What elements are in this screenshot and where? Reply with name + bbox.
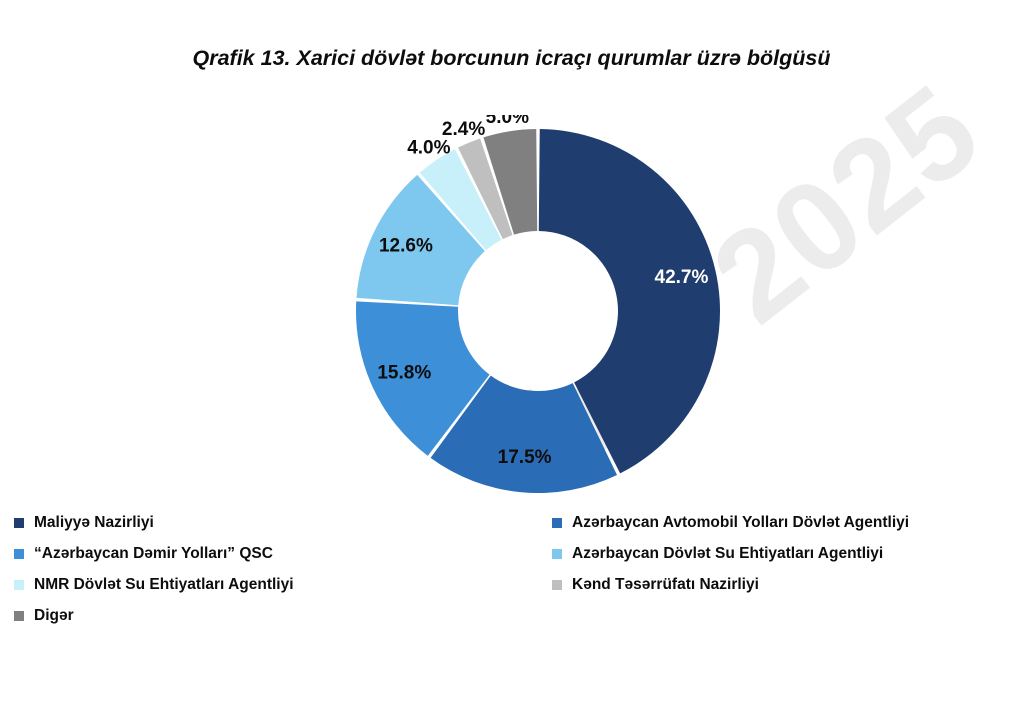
legend-swatch-icon — [552, 549, 562, 559]
legend-swatch-icon — [14, 518, 24, 528]
legend-item[interactable]: Maliyyə Nazirliyi — [14, 508, 534, 538]
legend-item-label: Digər — [34, 608, 74, 624]
legend-swatch-icon — [14, 611, 24, 621]
legend-item[interactable]: Digər — [14, 601, 534, 631]
legend-item[interactable]: Azərbaycan Avtomobil Yolları Dövlət Agen… — [552, 508, 1012, 538]
legend-swatch-icon — [552, 518, 562, 528]
slice-data-label: 12.6% — [379, 235, 433, 256]
slice-data-label: 2.4% — [442, 119, 485, 140]
legend-item[interactable]: Azərbaycan Dövlət Su Ehtiyatları Agentli… — [552, 539, 1012, 569]
slice-data-label: 5.0% — [486, 115, 529, 128]
slice-data-label: 4.0% — [407, 138, 450, 159]
legend-column-left: Maliyyə Nazirliyi“Azərbaycan Dəmir Yolla… — [14, 508, 534, 632]
donut-chart-svg: 42.7%17.5%15.8%12.6%4.0%2.4%5.0% — [342, 115, 742, 515]
legend-swatch-icon — [14, 549, 24, 559]
legend-item[interactable]: Kənd Təsərrüfatı Nazirliyi — [552, 570, 1012, 600]
legend-item[interactable]: NMR Dövlət Su Ehtiyatları Agentliyi — [14, 570, 534, 600]
slice-data-label: 17.5% — [498, 447, 552, 468]
slice-group — [356, 129, 720, 493]
legend-item[interactable]: “Azərbaycan Dəmir Yolları” QSC — [14, 539, 534, 569]
legend-swatch-icon — [14, 580, 24, 590]
chart-title: Qrafik 13. Xarici dövlət borcunun icraçı… — [0, 46, 1023, 71]
slice-data-label: 15.8% — [377, 362, 431, 383]
legend-item-label: NMR Dövlət Su Ehtiyatları Agentliyi — [34, 577, 294, 593]
legend-item-label: Azərbaycan Avtomobil Yolları Dövlət Agen… — [572, 515, 909, 531]
legend-item-label: Kənd Təsərrüfatı Nazirliyi — [572, 577, 759, 593]
legend-item-label: Azərbaycan Dövlət Su Ehtiyatları Agentli… — [572, 546, 883, 562]
legend-swatch-icon — [552, 580, 562, 590]
legend-column-right: Azərbaycan Avtomobil Yolları Dövlət Agen… — [552, 508, 1012, 601]
slice-data-label: 42.7% — [655, 267, 709, 288]
legend-item-label: Maliyyə Nazirliyi — [34, 515, 154, 531]
legend-item-label: “Azərbaycan Dəmir Yolları” QSC — [34, 546, 273, 562]
